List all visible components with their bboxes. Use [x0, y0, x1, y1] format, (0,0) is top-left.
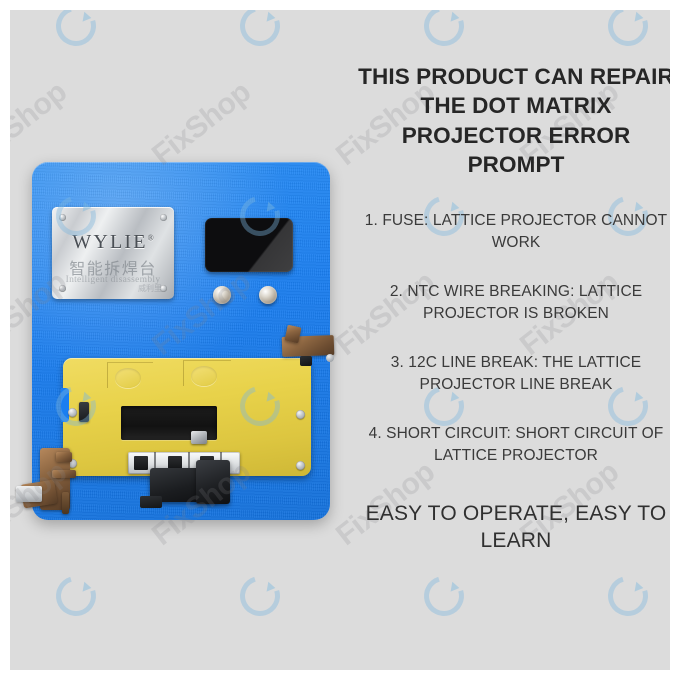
control-button-right[interactable]: [259, 286, 277, 304]
flex-cable-left-strip: [52, 470, 76, 478]
error-item-1: 1. FUSE: LATTICE PROJECTOR CANNOT WORK: [356, 210, 676, 255]
fixture-screw-top-right: [296, 410, 305, 419]
brand-name: WYLIE®: [52, 231, 174, 254]
error-item-4: 4. SHORT CIRCUIT: SHORT CIRCUIT OF LATTI…: [356, 423, 676, 468]
nameplate-screw-top-left: [59, 214, 66, 221]
rotate-arrow-icon: [601, 569, 655, 623]
frame-edge-left: [0, 0, 10, 680]
page-title: THIS PRODUCT CAN REPAIR THE DOT MATRIX P…: [356, 62, 676, 179]
fixture-notch-left: [61, 388, 69, 422]
fixture-screw-bottom-right: [296, 461, 305, 470]
fixture-left-chip: [79, 402, 89, 422]
brand-text: WYLIE: [72, 231, 147, 253]
frame-edge-bottom: [0, 670, 680, 680]
black-module-tab: [140, 496, 162, 508]
frame-edge-top: [0, 0, 680, 10]
screen-glare: [205, 218, 293, 272]
recess-metal-chip: [191, 431, 207, 444]
nameplate-screw-bottom-left: [59, 285, 66, 292]
flex-cable-left-stub: [56, 452, 72, 462]
fixture-center-recess: [121, 406, 217, 440]
fixture-recess-circle-2: [191, 366, 217, 386]
frame-edge-right: [670, 0, 680, 680]
flex-cable-left-pin: [62, 492, 69, 514]
control-button-left[interactable]: [213, 286, 231, 304]
marketing-copy: THIS PRODUCT CAN REPAIR THE DOT MATRIX P…: [356, 62, 676, 555]
flex-cable-right-pin: [326, 354, 334, 362]
lcd-screen[interactable]: [205, 218, 293, 272]
product-marketing-image: WYLIE® 智能拆焊台 Intelligent disassembly 威利里: [0, 0, 680, 680]
error-item-2: 2. NTC WIRE BREAKING: LATTICE PROJECTOR …: [356, 281, 676, 326]
fixture-recess-circle-1: [115, 368, 141, 388]
product-photo: WYLIE® 智能拆焊台 Intelligent disassembly 威利里: [0, 0, 356, 680]
nameplate-screw-top-right: [160, 214, 167, 221]
black-camera-module: [196, 460, 230, 504]
nameplate-chinese-small: 威利里: [138, 283, 162, 294]
fixture-screw-top-left: [68, 408, 77, 417]
flex-cable-right-chip: [300, 356, 312, 366]
tagline: EASY TO OPERATE, EASY TO LEARN: [356, 500, 676, 555]
registered-trademark-icon: ®: [148, 233, 154, 242]
error-item-3: 3. 12C LINE BREAK: THE LATTICE PROJECTOR…: [356, 352, 676, 397]
wylie-nameplate: WYLIE® 智能拆焊台 Intelligent disassembly 威利里: [52, 207, 174, 299]
flex-cable-left-white-tip: [16, 486, 42, 502]
rotate-arrow-icon: [417, 569, 471, 623]
connector-segment: [134, 456, 148, 470]
